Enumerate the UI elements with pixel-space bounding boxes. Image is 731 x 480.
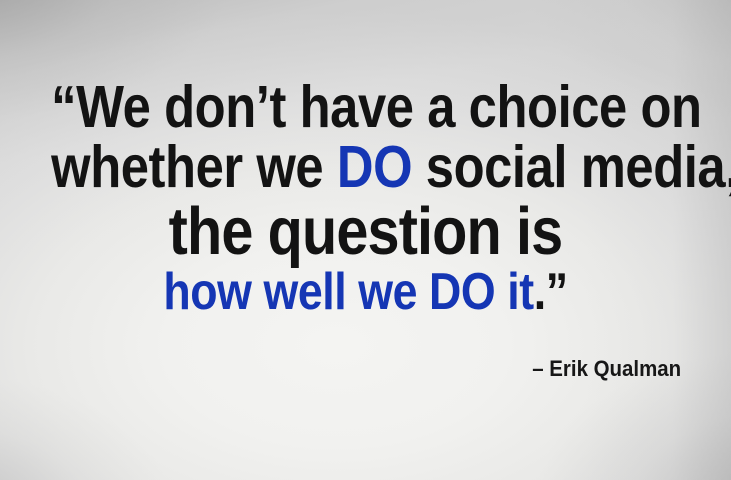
quote-line-4-after: it: [495, 263, 533, 321]
quote-text-block: “We don’t have a choice on whether we DO…: [0, 78, 731, 318]
quote-line-2-before: whether we: [51, 134, 337, 200]
quote-line-4-before: how well we: [163, 263, 429, 321]
opening-quote-mark: “: [51, 74, 76, 140]
quote-line-1-text: We don’t have a choice on: [76, 74, 702, 140]
quote-line-2-after: social media,: [412, 134, 731, 200]
quote-line-2: whether we DO social media,: [51, 138, 680, 197]
quote-line-4-punctuation: .: [534, 263, 546, 321]
quote-line-3-text: the question is: [169, 194, 563, 269]
quote-line-2-emphasis: DO: [337, 134, 412, 200]
quote-line-3: the question is: [51, 198, 680, 265]
quote-line-1: “We don’t have a choice on: [51, 78, 680, 137]
closing-quote-mark: ”: [546, 263, 568, 321]
quote-attribution: – Erik Qualman: [532, 356, 681, 382]
quote-line-4-emphasis: DO: [429, 263, 495, 321]
quote-poster: “We don’t have a choice on whether we DO…: [0, 0, 731, 480]
quote-line-4: how well we DO it.”: [51, 266, 680, 318]
